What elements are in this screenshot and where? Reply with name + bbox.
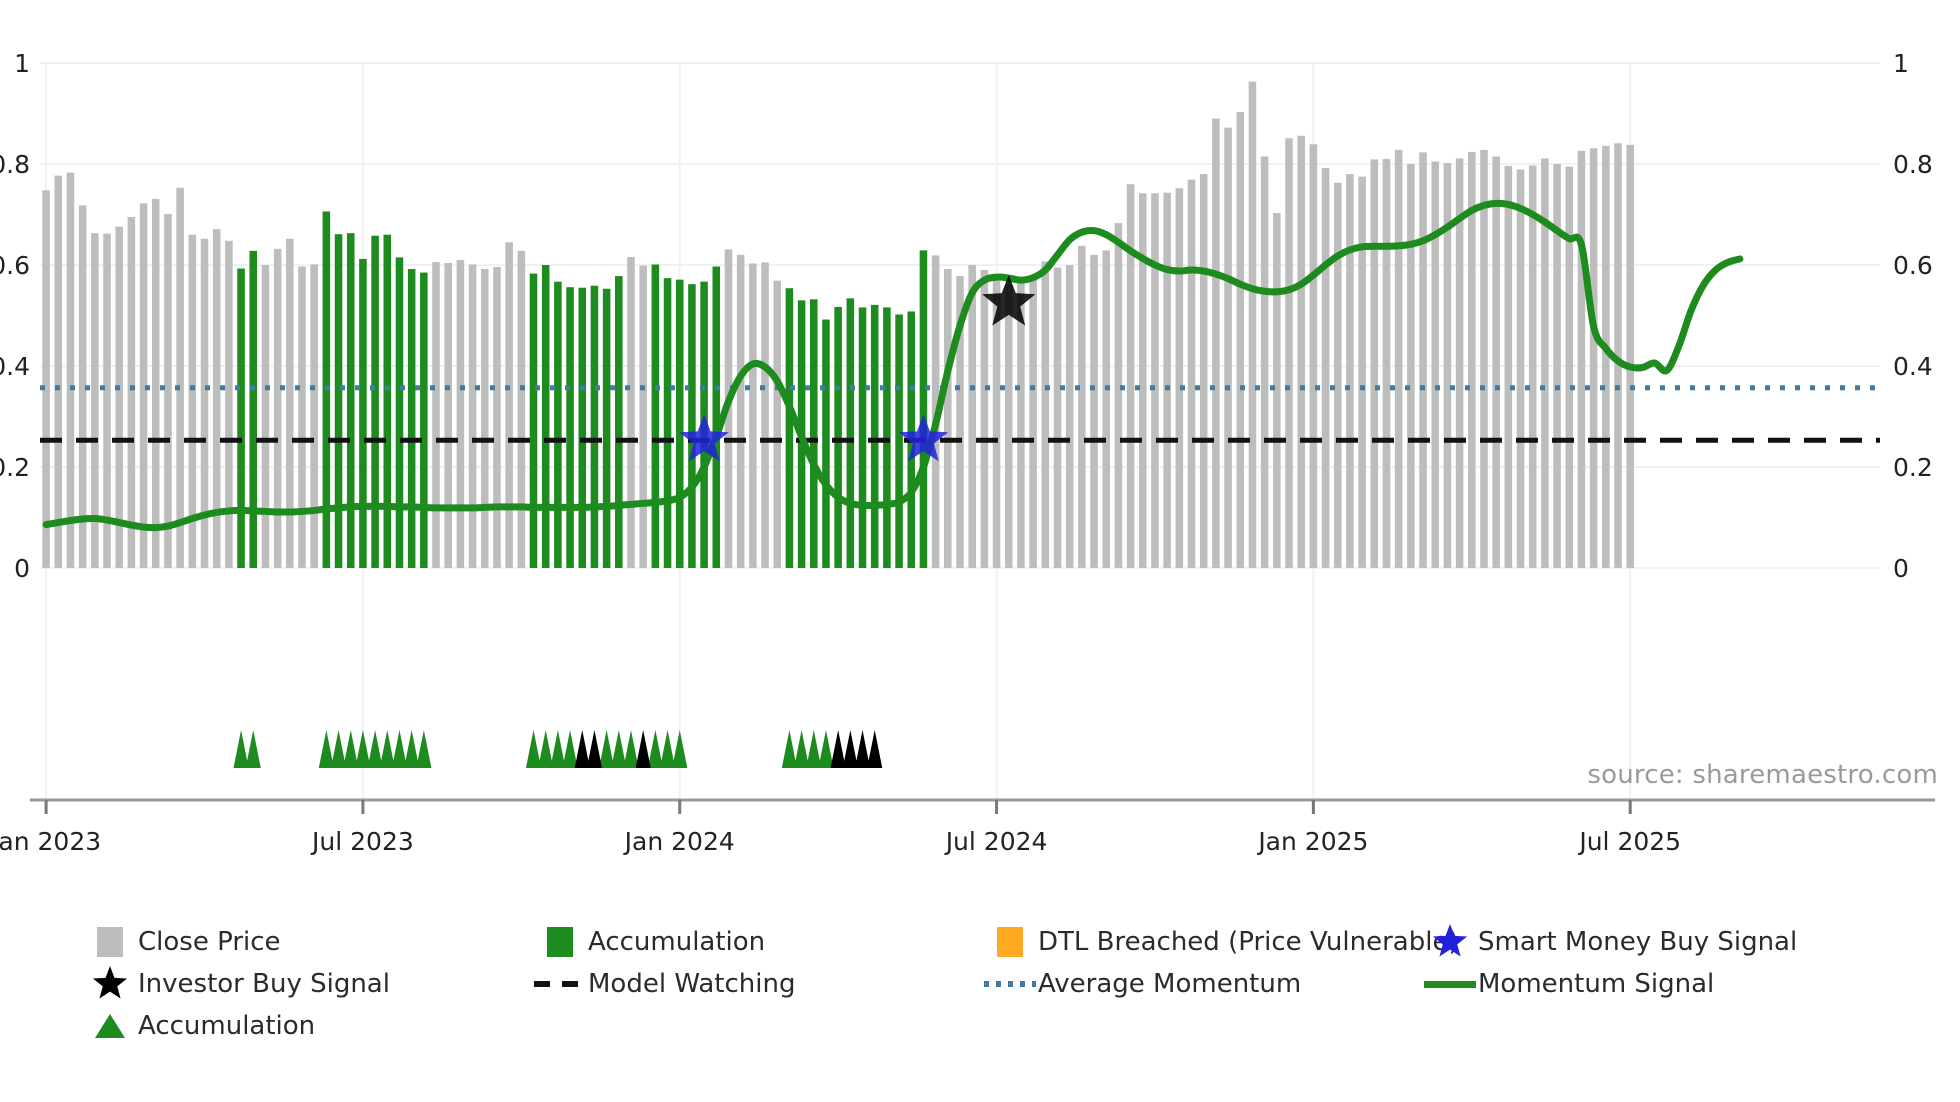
x-tick-label: Jul 2025 xyxy=(1577,827,1681,856)
bar-accumulation xyxy=(664,278,672,568)
bar-close-price xyxy=(1285,138,1293,568)
bar-close-price xyxy=(518,251,526,568)
square-green-icon xyxy=(532,927,588,957)
accumulation-triangle-green-icon xyxy=(648,730,663,768)
legend-row: Investor Buy SignalModel WatchingAverage… xyxy=(82,964,1932,1006)
bar-close-price xyxy=(639,266,647,568)
accumulation-triangle-green-icon xyxy=(563,730,578,768)
x-tick-label: Jan 2025 xyxy=(1256,827,1368,856)
accumulation-triangle-black-icon xyxy=(636,730,651,768)
bar-close-price xyxy=(1492,156,1500,568)
bar-close-price xyxy=(1151,193,1159,568)
accumulation-triangle-black-icon xyxy=(575,730,590,768)
bar-close-price xyxy=(55,176,63,568)
bar-close-price xyxy=(42,190,50,568)
legend-item-accumulation[interactable]: Accumulation xyxy=(82,1006,315,1046)
bar-accumulation xyxy=(834,307,842,568)
bar-close-price xyxy=(1188,180,1196,568)
y-tick-label-left: 0.8 xyxy=(0,150,30,179)
dotted-line-icon xyxy=(982,978,1038,990)
bar-close-price xyxy=(1578,151,1586,568)
bar-close-price xyxy=(627,257,635,568)
bar-accumulation xyxy=(603,289,611,568)
legend-label: DTL Breached (Price Vulnerable) xyxy=(1038,927,1459,957)
bar-close-price xyxy=(1054,268,1062,568)
legend-label: Momentum Signal xyxy=(1478,969,1714,999)
x-tick-label: Jan 2024 xyxy=(623,827,735,856)
bar-close-price xyxy=(1310,144,1318,568)
bar-accumulation xyxy=(883,307,891,568)
bar-close-price xyxy=(1419,152,1427,568)
bar-close-price xyxy=(481,269,489,568)
accumulation-triangle-black-icon xyxy=(867,730,882,768)
accumulation-triangle-green-icon xyxy=(234,730,249,768)
accumulation-triangle-black-icon xyxy=(843,730,858,768)
y-tick-label-right: 0.8 xyxy=(1893,150,1933,179)
square-orange-icon xyxy=(982,927,1038,957)
legend-row: Close PriceAccumulationDTL Breached (Pri… xyxy=(82,922,1932,964)
y-tick-label-left: 0.2 xyxy=(0,453,30,482)
legend-item-investor-buy-signal[interactable]: Investor Buy Signal xyxy=(82,964,390,1004)
bar-close-price xyxy=(1358,177,1366,568)
bar-accumulation xyxy=(920,250,928,568)
bar-close-price xyxy=(1163,193,1171,568)
bar-accumulation xyxy=(847,298,855,568)
bar-close-price xyxy=(67,173,75,568)
accumulation-triangle-green-icon xyxy=(794,730,809,768)
bar-close-price xyxy=(1139,193,1147,568)
bar-close-price xyxy=(1200,174,1208,568)
bar-close-price xyxy=(1224,128,1232,568)
bar-close-price xyxy=(1090,255,1098,568)
bar-close-price xyxy=(1236,112,1244,568)
bar-accumulation xyxy=(384,235,392,568)
bar-close-price xyxy=(262,265,270,568)
momentum-chart: 00.20.40.60.81 00.20.40.60.81 Jan 2023Ju… xyxy=(0,0,1960,1102)
bar-close-price xyxy=(1431,161,1439,568)
bar-accumulation xyxy=(895,314,903,568)
bar-close-price xyxy=(1212,119,1220,568)
bar-close-price xyxy=(298,267,306,568)
accumulation-triangle-green-icon xyxy=(416,730,431,768)
bar-accumulation xyxy=(615,276,623,568)
bar-close-price xyxy=(1273,213,1281,568)
bar-accumulation xyxy=(713,267,721,568)
y-tick-label-right: 0.6 xyxy=(1893,251,1933,280)
legend-item-dtl-breached-price-vulnerable[interactable]: DTL Breached (Price Vulnerable) xyxy=(982,922,1459,962)
bar-accumulation xyxy=(335,234,343,568)
bar-accumulation xyxy=(859,307,867,568)
y-tick-label-right: 0.4 xyxy=(1893,352,1933,381)
legend-item-average-momentum[interactable]: Average Momentum xyxy=(982,964,1301,1004)
bar-close-price xyxy=(1078,246,1086,568)
accumulation-triangle-green-icon xyxy=(806,730,821,768)
bar-accumulation xyxy=(786,288,794,568)
bar-close-price xyxy=(1626,145,1634,568)
bar-close-price xyxy=(225,241,233,568)
legend-row: Accumulation xyxy=(82,1006,1932,1048)
bar-close-price xyxy=(164,214,172,568)
bar-accumulation xyxy=(591,286,599,568)
bar-accumulation xyxy=(530,274,538,568)
bar-close-price xyxy=(1395,150,1403,568)
bar-accumulation xyxy=(871,305,879,568)
accumulation-triangle-green-icon xyxy=(818,730,833,768)
bar-close-price xyxy=(1297,136,1305,568)
solid-line-icon xyxy=(1422,981,1478,988)
bar-close-price xyxy=(444,263,452,568)
bar-close-price xyxy=(1517,170,1525,568)
bar-close-price xyxy=(1261,156,1269,568)
accumulation-triangle-green-icon xyxy=(672,730,687,768)
bar-accumulation xyxy=(554,282,562,568)
accumulation-triangle-green-icon xyxy=(392,730,407,768)
square-gray-icon xyxy=(82,927,138,957)
bar-close-price xyxy=(1480,150,1488,568)
bar-close-price xyxy=(469,264,477,568)
accumulation-triangle-green-icon xyxy=(550,730,565,768)
y-tick-label-left: 0.6 xyxy=(0,251,30,280)
accumulation-triangle-green-icon xyxy=(319,730,334,768)
accumulation-triangle-green-icon xyxy=(355,730,370,768)
y-tick-label-left: 1 xyxy=(14,49,30,78)
bar-close-price xyxy=(968,265,976,568)
bar-close-price xyxy=(761,262,769,568)
bar-accumulation xyxy=(810,299,818,568)
bar-close-price xyxy=(1383,159,1391,568)
bar-accumulation xyxy=(408,269,416,568)
legend-label: Average Momentum xyxy=(1038,969,1301,999)
bar-accumulation xyxy=(359,259,367,568)
bar-close-price xyxy=(981,270,989,568)
bar-accumulation xyxy=(688,284,696,568)
bar-close-price xyxy=(1590,148,1598,568)
accumulation-triangle-green-icon xyxy=(343,730,358,768)
x-tick-label: Jul 2023 xyxy=(310,827,414,856)
accumulation-triangle-green-icon xyxy=(526,730,541,768)
dashed-line-icon xyxy=(532,978,588,990)
legend-label: Investor Buy Signal xyxy=(138,969,390,999)
bar-close-price xyxy=(1066,265,1074,568)
bar-accumulation xyxy=(676,280,684,568)
bar-close-price xyxy=(213,229,221,568)
y-axis-labels-right: 00.20.40.60.81 xyxy=(1893,49,1933,583)
accumulation-triangle-green-icon xyxy=(599,730,614,768)
bar-close-price xyxy=(737,255,745,568)
accumulation-triangle-green-icon xyxy=(368,730,383,768)
bar-accumulation xyxy=(396,257,404,568)
bar-close-price xyxy=(1346,174,1354,568)
bar-accumulation xyxy=(542,265,550,568)
bar-accumulation xyxy=(371,236,379,568)
bar-accumulation xyxy=(822,320,830,568)
bar-close-price xyxy=(310,264,318,568)
bar-close-price xyxy=(1102,250,1110,568)
accumulation-triangle-green-icon xyxy=(380,730,395,768)
bar-accumulation xyxy=(237,269,245,568)
legend-item-close-price[interactable]: Close Price xyxy=(82,922,281,962)
bar-close-price xyxy=(1176,188,1184,568)
bar-close-price xyxy=(286,239,294,568)
x-tick-label: Jul 2024 xyxy=(944,827,1048,856)
y-tick-label-right: 0 xyxy=(1893,554,1909,583)
star-black-icon xyxy=(82,964,138,1004)
legend-item-accumulation[interactable]: Accumulation xyxy=(532,922,765,962)
bar-close-price xyxy=(1042,261,1050,568)
accumulation-triangle-black-icon xyxy=(831,730,846,768)
bar-close-price xyxy=(176,188,184,568)
legend-label: Close Price xyxy=(138,927,281,957)
triangle-green-icon xyxy=(82,1009,138,1043)
source-watermark: source: sharemaestro.com xyxy=(1587,760,1938,790)
bar-close-price xyxy=(128,217,136,568)
bar-close-price xyxy=(1029,278,1037,568)
accumulation-triangle-black-icon xyxy=(855,730,870,768)
bar-close-price xyxy=(773,281,781,568)
bar-close-price xyxy=(1115,223,1123,568)
accumulation-triangle-green-icon xyxy=(404,730,419,768)
bar-close-price xyxy=(1529,166,1537,568)
bar-close-price xyxy=(115,227,123,568)
accumulation-triangle-black-icon xyxy=(587,730,602,768)
accumulation-triangle-green-icon xyxy=(782,730,797,768)
legend-label: Smart Money Buy Signal xyxy=(1478,927,1797,957)
legend-item-model-watching[interactable]: Model Watching xyxy=(532,964,795,1004)
bar-accumulation xyxy=(420,273,428,568)
bar-close-price xyxy=(457,260,465,568)
accumulation-triangles-group xyxy=(234,730,883,768)
y-tick-label-left: 0 xyxy=(14,554,30,583)
bar-accumulation xyxy=(652,264,660,568)
y-tick-label-left: 0.4 xyxy=(0,352,30,381)
accumulation-triangle-green-icon xyxy=(611,730,626,768)
bar-accumulation xyxy=(578,288,586,568)
accumulation-triangle-green-icon xyxy=(246,730,261,768)
bar-close-price xyxy=(1371,159,1379,568)
bar-close-price xyxy=(1005,284,1013,568)
star-blue-icon xyxy=(1422,922,1478,962)
legend-item-smart-money-buy-signal[interactable]: Smart Money Buy Signal xyxy=(1422,922,1797,962)
chart-legend: Close PriceAccumulationDTL Breached (Pri… xyxy=(82,922,1932,1048)
legend-label: Accumulation xyxy=(138,1011,315,1041)
y-axis-labels-left: 00.20.40.60.81 xyxy=(0,49,30,583)
accumulation-triangle-green-icon xyxy=(538,730,553,768)
legend-label: Model Watching xyxy=(588,969,795,999)
legend-label: Accumulation xyxy=(588,927,765,957)
bar-close-price xyxy=(749,263,757,568)
bar-close-price xyxy=(1322,168,1330,568)
accumulation-triangle-green-icon xyxy=(660,730,675,768)
accumulation-triangle-green-icon xyxy=(623,730,638,768)
bar-close-price xyxy=(152,199,160,568)
bar-close-price xyxy=(1127,184,1135,568)
y-tick-label-right: 1 xyxy=(1893,49,1909,78)
y-tick-label-right: 0.2 xyxy=(1893,453,1933,482)
bar-close-price xyxy=(1249,82,1257,568)
bar-close-price xyxy=(493,267,501,568)
legend-item-momentum-signal[interactable]: Momentum Signal xyxy=(1422,964,1714,1004)
axes-group xyxy=(30,800,1935,814)
bar-close-price xyxy=(1565,167,1573,568)
bar-close-price xyxy=(432,262,440,568)
bar-accumulation xyxy=(566,287,574,568)
x-axis-labels: Jan 2023Jul 2023Jan 2024Jul 2024Jan 2025… xyxy=(0,827,1681,856)
bar-close-price xyxy=(274,249,282,568)
bar-accumulation xyxy=(249,251,257,568)
bar-close-price xyxy=(1505,166,1513,568)
accumulation-triangle-green-icon xyxy=(331,730,346,768)
bar-accumulation xyxy=(347,233,355,568)
bar-close-price xyxy=(944,269,952,568)
bar-close-price xyxy=(505,242,513,568)
x-tick-label: Jan 2023 xyxy=(0,827,101,856)
bar-close-price xyxy=(1334,183,1342,568)
bar-close-price xyxy=(1407,164,1415,568)
